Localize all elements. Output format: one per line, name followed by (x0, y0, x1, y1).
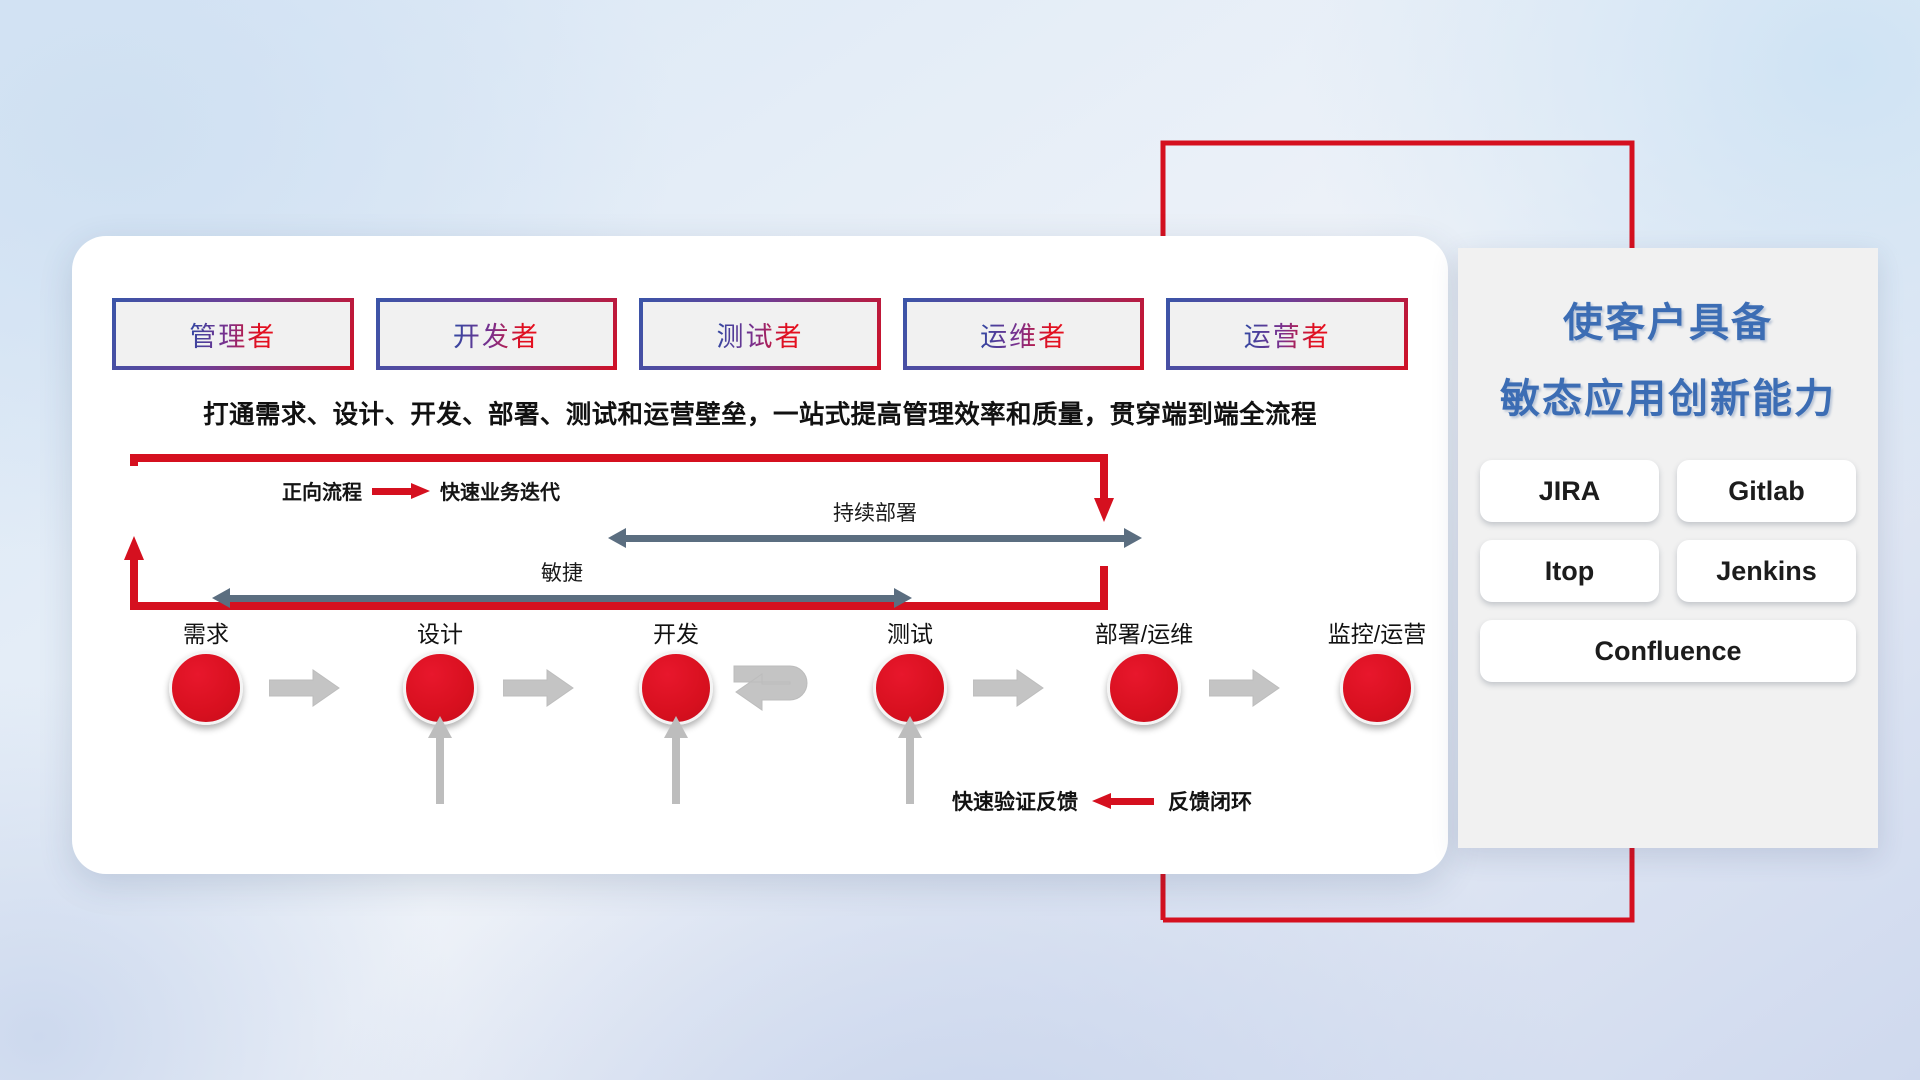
pipeline: 需求 设计 开发 测试 部署/运维 监控/运营 (72, 236, 1448, 874)
panel-heading-line-1: 使客户具备 (1458, 290, 1878, 348)
node-dot-icon (403, 651, 477, 725)
connector-right-arrow-icon-2 (503, 668, 575, 708)
node-label: 开发 (653, 615, 699, 649)
node-label: 测试 (887, 615, 933, 649)
tool-label: Gitlab (1728, 476, 1805, 507)
tool-button-itop[interactable]: Itop (1480, 540, 1659, 602)
tool-label: JIRA (1539, 476, 1601, 507)
node-feeder-arrows (72, 236, 1448, 874)
node-label: 设计 (417, 615, 463, 649)
tool-button-confluence[interactable]: Confluence (1480, 620, 1856, 682)
node-label: 监控/运营 (1328, 615, 1426, 649)
feedback-closed-loop-label: 反馈闭环 (1168, 786, 1252, 816)
pipeline-node-requirement[interactable]: 需求 (169, 651, 243, 725)
connector-loop-cycle-arrow-icon (732, 660, 828, 718)
tool-label: Confluence (1594, 636, 1741, 667)
tool-button-jenkins[interactable]: Jenkins (1677, 540, 1856, 602)
tool-button-grid: JIRA Gitlab Itop Jenkins Confluence (1480, 460, 1856, 682)
pipeline-node-design[interactable]: 设计 (403, 651, 477, 725)
pipeline-node-monitor-operations[interactable]: 监控/运营 (1340, 651, 1414, 725)
panel-heading-line-2: 敏态应用创新能力 (1458, 366, 1878, 424)
tool-label: Jenkins (1716, 556, 1817, 587)
connector-right-arrow-icon-1 (269, 668, 341, 708)
tool-button-gitlab[interactable]: Gitlab (1677, 460, 1856, 522)
pipeline-node-deploy-ops[interactable]: 部署/运维 (1107, 651, 1181, 725)
pipeline-node-testing[interactable]: 测试 (873, 651, 947, 725)
slide-canvas: 管理者 开发者 测试者 运维者 运营者 打通需求、设计、开发、部署、测试和运营壁… (0, 0, 1920, 1080)
pipeline-node-development[interactable]: 开发 (639, 651, 713, 725)
feedback-loop-annotation: 快速验证反馈 反馈闭环 (952, 786, 1252, 816)
node-label: 部署/运维 (1095, 615, 1193, 649)
left-arrow-icon (1092, 793, 1154, 809)
node-dot-icon (873, 651, 947, 725)
node-dot-icon (639, 651, 713, 725)
node-label: 需求 (183, 615, 229, 649)
connector-right-arrow-icon-5 (1209, 668, 1281, 708)
node-dot-icon (1107, 651, 1181, 725)
fast-validation-label: 快速验证反馈 (952, 786, 1078, 816)
capability-panel: 使客户具备 敏态应用创新能力 JIRA Gitlab Itop Jenkins … (1458, 248, 1878, 848)
node-dot-icon (169, 651, 243, 725)
connector-right-arrow-icon-4 (973, 668, 1045, 708)
tool-button-jira[interactable]: JIRA (1480, 460, 1659, 522)
node-dot-icon (1340, 651, 1414, 725)
tool-label: Itop (1545, 556, 1594, 587)
